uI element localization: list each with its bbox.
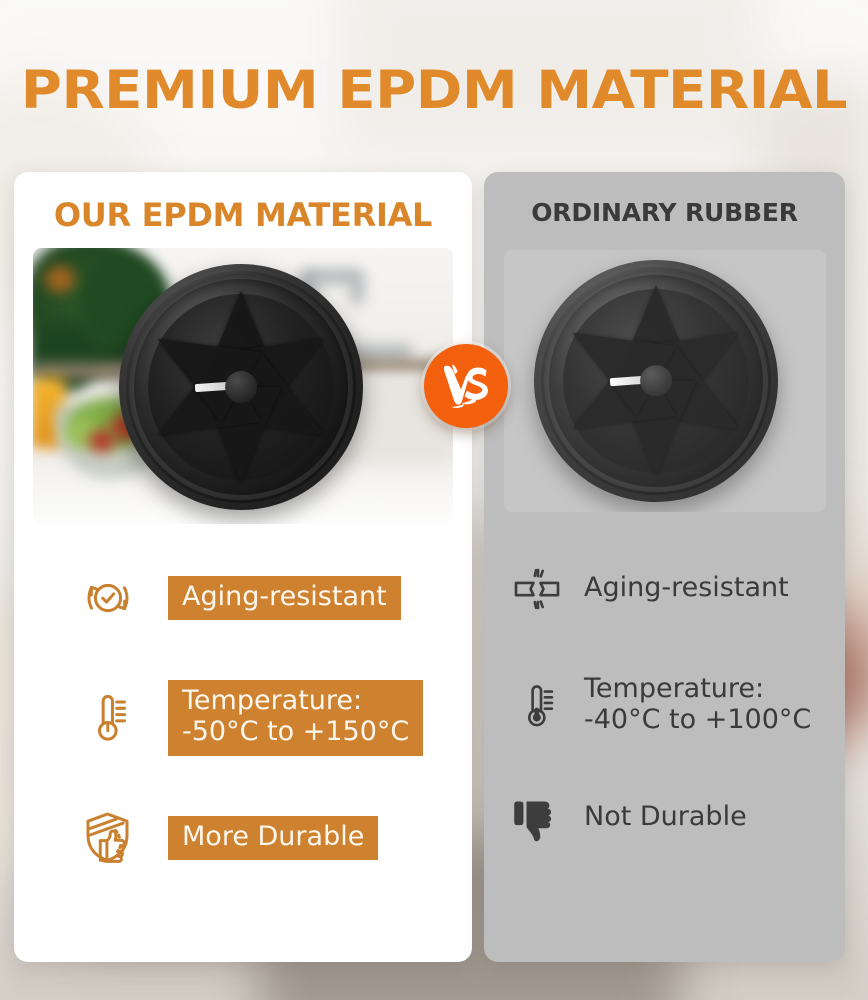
feature-label: Temperature: -50°C to +150°C [168, 680, 423, 756]
thermometer-icon [70, 680, 146, 756]
feature-row-temperature: Temperature: -40°C to +100°C [484, 670, 845, 742]
broken-bar-icon [506, 558, 568, 620]
feature-row-temperature: Temperature: -50°C to +150°C [14, 680, 472, 756]
feature-row-aging-resistant: Aging-resistant [14, 560, 472, 636]
ordinary-splash-guard-image [534, 260, 778, 502]
shield-thumbs-up-icon [70, 800, 146, 876]
feature-label: Aging-resistant [168, 576, 401, 621]
feature-label: Not Durable [584, 798, 747, 839]
vs-badge-icon [434, 354, 498, 418]
ordinary-rubber-heading: ORDINARY RUBBER [484, 198, 845, 227]
ordinary-rubber-feature-list: Aging-resistant Temperature: -40° [484, 558, 845, 850]
feature-row-durable: Not Durable [484, 788, 845, 850]
our-epdm-product-photo [33, 248, 453, 524]
our-epdm-heading: OUR EPDM MATERIAL [14, 196, 472, 234]
our-epdm-panel: OUR EPDM MATERIAL [14, 172, 472, 962]
feature-label: Temperature: -40°C to +100°C [584, 670, 811, 742]
ordinary-rubber-product-photo [504, 250, 826, 512]
feature-row-durable: More Durable [14, 800, 472, 876]
feature-row-aging-resistant: Aging-resistant [484, 558, 845, 620]
feature-label: Aging-resistant [584, 569, 789, 610]
thumbs-down-icon [506, 788, 568, 850]
vs-badge [424, 344, 508, 428]
aging-resistant-cycle-icon [70, 560, 146, 636]
thermometer-icon [506, 675, 568, 737]
epdm-splash-guard-image [119, 264, 363, 510]
our-epdm-feature-list: Aging-resistant Temperature: -50°C to +1… [14, 560, 472, 876]
ordinary-rubber-panel: ORDINARY RUBBER [484, 172, 845, 962]
feature-label: More Durable [168, 816, 378, 861]
